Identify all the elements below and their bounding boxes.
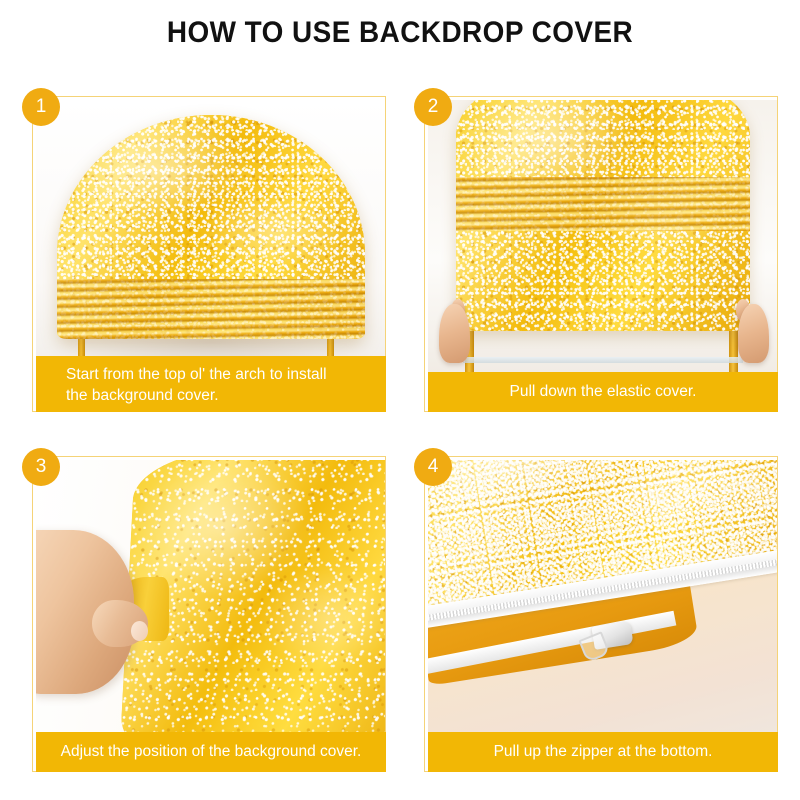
- caption-line: Start from the top ol' the arch to insta…: [66, 364, 372, 385]
- step-2-image: [428, 100, 778, 392]
- fingernail: [131, 621, 149, 641]
- gold-sequin-elastic-cover: [456, 100, 750, 331]
- step-caption-1: Start from the top ol' the arch to insta…: [36, 356, 386, 412]
- caption-line: Adjust the position of the background co…: [46, 741, 376, 762]
- step-4-image: [428, 460, 778, 752]
- step-panel-2: 2 Pull down the elastic cover.: [414, 88, 778, 418]
- right-hand: [738, 304, 770, 362]
- stand-crossbar: [463, 357, 743, 363]
- step-caption-3: Adjust the position of the background co…: [36, 732, 386, 772]
- ruched-band: [456, 177, 750, 232]
- step-panel-1: 1 Start from the top ol' the arch to ins…: [22, 88, 386, 418]
- steps-grid: 1 Start from the top ol' the arch to ins…: [22, 88, 778, 788]
- step-badge-2: 2: [414, 88, 452, 126]
- caption-line: Pull down the elastic cover.: [438, 381, 768, 402]
- step-caption-2: Pull down the elastic cover.: [428, 372, 778, 412]
- step-panel-3: 3 Adjust the position of the background …: [22, 448, 386, 778]
- step-badge-4: 4: [414, 448, 452, 486]
- step-badge-3: 3: [22, 448, 60, 486]
- caption-line: Pull up the zipper at the bottom.: [438, 741, 768, 762]
- caption-line: the background cover.: [66, 385, 372, 406]
- instruction-infographic: HOW TO USE BACKDROP COVER 1 Start from t…: [0, 0, 800, 800]
- step-panel-4: 4 Pull up the zipper at the bottom.: [414, 448, 778, 778]
- step-caption-4: Pull up the zipper at the bottom.: [428, 732, 778, 772]
- step-1-image: [36, 100, 386, 392]
- step-3-image: [36, 460, 386, 752]
- gold-sequin-arch-cover: [57, 115, 365, 340]
- page-title: HOW TO USE BACKDROP COVER: [28, 16, 772, 50]
- left-hand: [439, 304, 471, 362]
- step-badge-1: 1: [22, 88, 60, 126]
- ruched-band: [57, 279, 365, 340]
